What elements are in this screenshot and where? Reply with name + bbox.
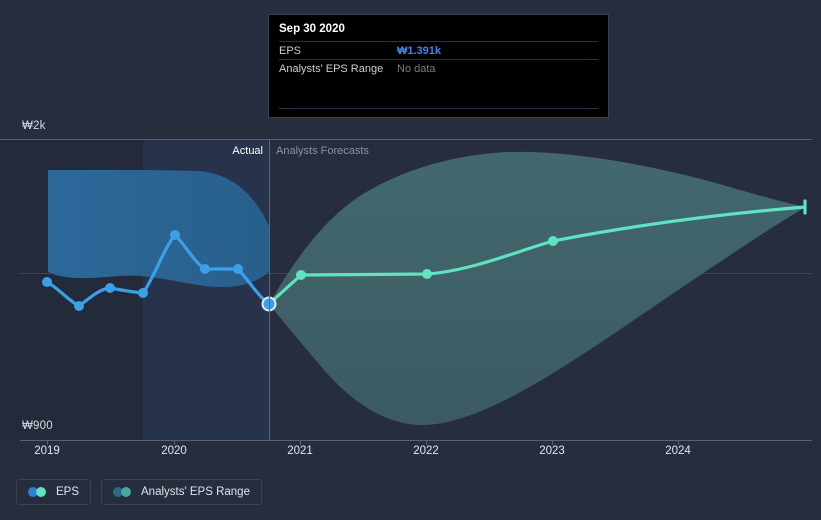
legend-item-eps[interactable]: EPS <box>16 479 91 505</box>
eps-point-marker <box>42 277 52 287</box>
tooltip-row-label: Analysts' EPS Range <box>279 63 397 75</box>
eps-forecast-point-marker <box>296 270 306 280</box>
legend-item-label: EPS <box>56 486 79 498</box>
tooltip-row-label: EPS <box>279 45 397 57</box>
eps-point-marker <box>233 264 243 274</box>
eps-point-marker <box>105 283 115 293</box>
tooltip-row-value: No data <box>397 63 436 75</box>
legend-item-analysts-eps-range[interactable]: Analysts' EPS Range <box>101 479 262 505</box>
y-axis-label-bottom: ₩900 <box>22 420 53 432</box>
eps-point-marker <box>200 264 210 274</box>
eps-forecast-point-marker <box>422 269 432 279</box>
y-axis-label-top: ₩2k <box>22 120 46 132</box>
legend-item-label: Analysts' EPS Range <box>141 486 250 498</box>
phase-label-forecast: Analysts Forecasts <box>276 145 369 157</box>
legend-swatch-icon <box>28 487 48 497</box>
eps-point-marker <box>170 230 180 240</box>
x-axis-tick-label: 2022 <box>413 445 439 457</box>
tooltip-row-analysts-range: Analysts' EPS Range No data <box>279 59 598 77</box>
eps-point-marker <box>138 288 148 298</box>
eps-point-marker <box>74 301 84 311</box>
tooltip-title: Sep 30 2020 <box>279 23 598 41</box>
x-axis-tick-label: 2024 <box>665 445 691 457</box>
x-axis-tick-label: 2023 <box>539 445 565 457</box>
eps-chart-widget: ₩2k ₩900 2019 2020 2021 2022 2023 2024 A… <box>0 0 821 520</box>
eps-forecast-point-marker <box>548 236 558 246</box>
tooltip-row-eps: EPS ₩1.391k <box>279 41 598 59</box>
phase-label-actual: Actual <box>232 145 263 157</box>
tooltip-row-value: ₩1.391k <box>397 45 441 57</box>
x-axis-tick-label: 2020 <box>161 445 187 457</box>
legend-swatch-icon <box>113 487 133 497</box>
x-axis-tick-label: 2019 <box>34 445 60 457</box>
tooltip-divider <box>279 108 598 110</box>
x-axis-tick-label: 2021 <box>287 445 313 457</box>
chart-tooltip: Sep 30 2020 EPS ₩1.391k Analysts' EPS Ra… <box>268 14 609 118</box>
chart-legend: EPS Analysts' EPS Range <box>16 479 262 505</box>
